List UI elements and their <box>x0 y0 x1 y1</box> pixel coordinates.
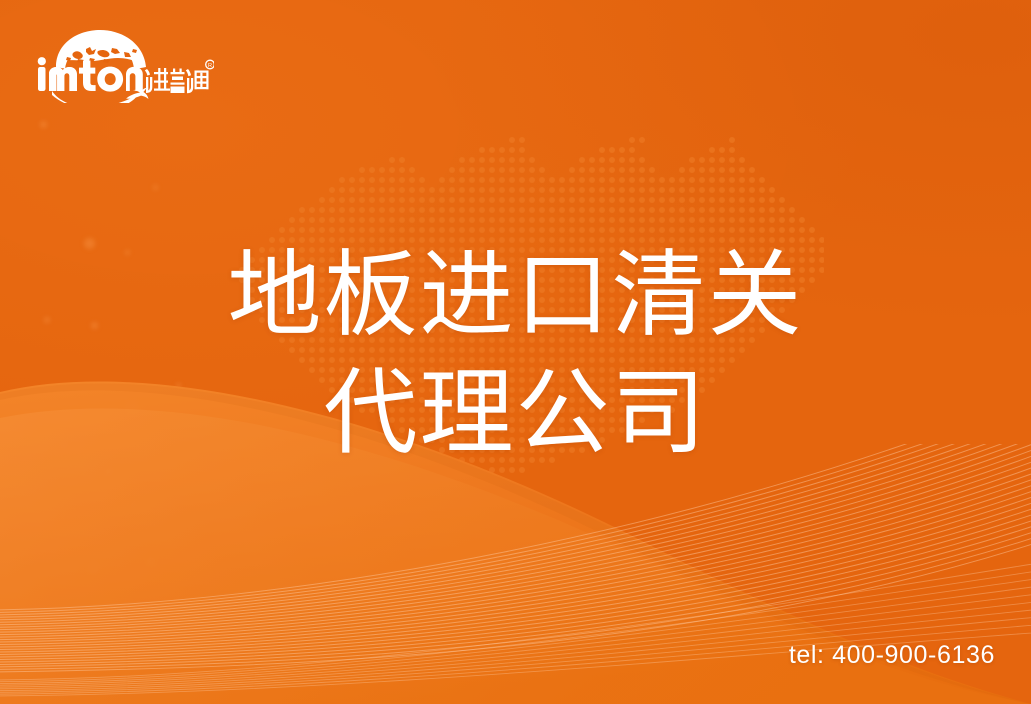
svg-text:R: R <box>208 63 212 69</box>
airplane-swoosh-icon <box>52 88 148 103</box>
page-title-line-1: 地板进口清关 <box>0 236 1031 354</box>
page-title-line-2: 代理公司 <box>0 354 1031 472</box>
globe-arc-icon <box>56 30 146 69</box>
trademark-icon: R <box>206 60 214 69</box>
page-title: 地板进口清关 代理公司 <box>0 236 1031 472</box>
imton-logo[interactable]: R <box>34 27 214 103</box>
contact-phone[interactable]: tel: 400-900-6136 <box>789 641 995 670</box>
logo-wordmark-latin <box>38 57 143 92</box>
banner-canvas: R 地板进口清关 代理公司 tel: 400-900-6136 <box>0 0 1031 704</box>
logo-wordmark-chinese <box>145 68 209 93</box>
